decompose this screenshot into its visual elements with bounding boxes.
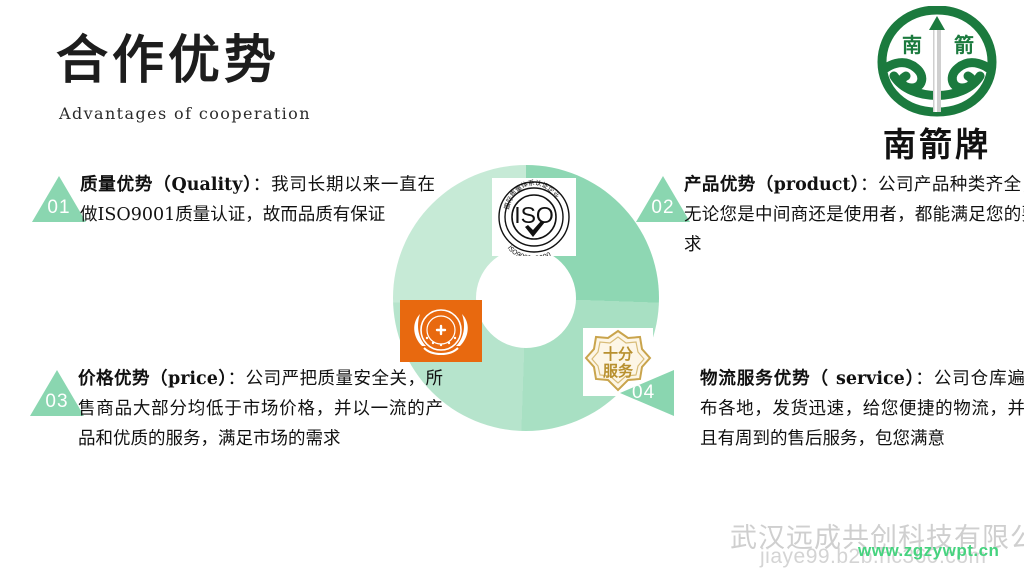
slide-canvas: 合作优势 Advantages of cooperation 南 箭 南箭牌 (0, 0, 1024, 576)
page-subtitle: Advantages of cooperation (59, 104, 311, 123)
item-separator-01: ： (253, 175, 271, 195)
item-separator-04: ： (915, 369, 933, 389)
quality-honor-badge (400, 300, 482, 362)
item-heading-02: 产品优势（product） (684, 175, 860, 195)
nanjian-arrow-emblem-icon: 南 箭 (876, 6, 998, 118)
watermark-site-primary: www.zgzywpt.cn (858, 541, 999, 561)
item-number-badge-03: 03 (30, 370, 84, 416)
brand-logo: 南 箭 南箭牌 (864, 6, 1010, 162)
service-badge-text-bottom: 服务 (603, 362, 634, 380)
iso-certification-badge: 国际质量体系认证企业 ISO9001: 2000 ISO (492, 178, 576, 256)
item-text-03: 价格优势（price）：公司严把质量安全关，所售商品大部分均低于市场价格，并以一… (78, 364, 443, 454)
item-separator-02: ： (860, 175, 878, 195)
brand-wordmark: 南箭牌 (864, 118, 1010, 166)
item-heading-01: 质量优势（Quality） (80, 175, 253, 195)
item-number-badge-01: 01 (32, 176, 86, 222)
item-separator-03: ： (228, 369, 246, 389)
item-text-01: 质量优势（Quality）：我司长期以来一直在做ISO9001质量认证，故而品质… (80, 170, 435, 230)
donut-center-hole (476, 248, 576, 348)
item-heading-04: 物流服务优势（ service） (700, 369, 915, 389)
service-badge-text-top: 十分 (603, 345, 633, 363)
item-heading-03: 价格优势（price） (78, 369, 228, 389)
emblem-char-left: 南 (902, 33, 922, 57)
emblem-char-right: 箭 (954, 33, 974, 57)
item-text-02: 产品优势（product）：公司产品种类齐全，无论您是中间商还是使用者，都能满足… (684, 170, 1024, 260)
iso-label: ISO (514, 202, 554, 228)
page-title: 合作优势 (56, 18, 280, 93)
item-text-04: 物流服务优势（ service）：公司仓库遍布各地，发货迅速，给您便捷的物流，并… (700, 364, 1024, 454)
